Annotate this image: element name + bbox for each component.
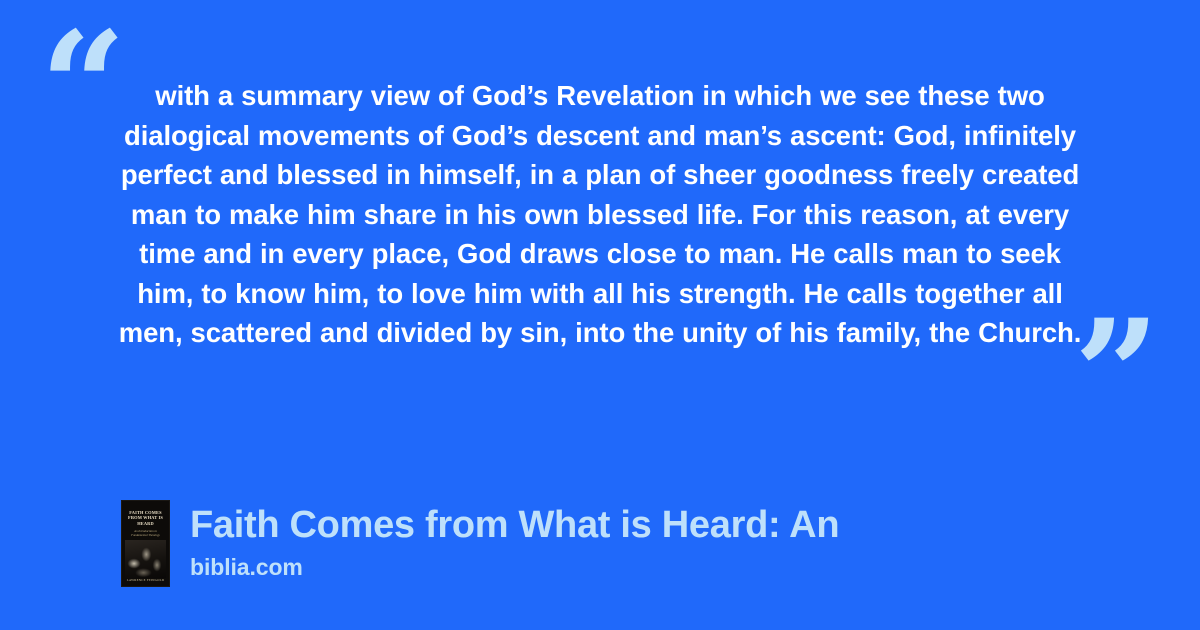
source-info: Faith Comes from What is Heard: An bibli… xyxy=(190,500,839,581)
quote-block: with a summary view of God’s Revelation … xyxy=(110,76,1090,353)
book-cover-artwork xyxy=(125,540,166,578)
book-cover-title: Faith Comes from What is Heard xyxy=(126,510,166,526)
book-cover-thumbnail[interactable]: Faith Comes from What is Heard An Introd… xyxy=(121,500,170,587)
quote-text: with a summary view of God’s Revelation … xyxy=(110,76,1090,353)
book-cover-subtitle: An Introduction to Fundamental Theology xyxy=(127,529,165,537)
source-domain[interactable]: biblia.com xyxy=(190,548,839,581)
source-footer[interactable]: Faith Comes from What is Heard An Introd… xyxy=(121,500,839,587)
closing-quote-icon: ” xyxy=(1074,300,1160,450)
book-title[interactable]: Faith Comes from What is Heard: An xyxy=(190,502,839,548)
book-cover-author: Lawrence Feingold xyxy=(125,578,167,582)
quote-card: “ with a summary view of God’s Revelatio… xyxy=(0,0,1200,630)
